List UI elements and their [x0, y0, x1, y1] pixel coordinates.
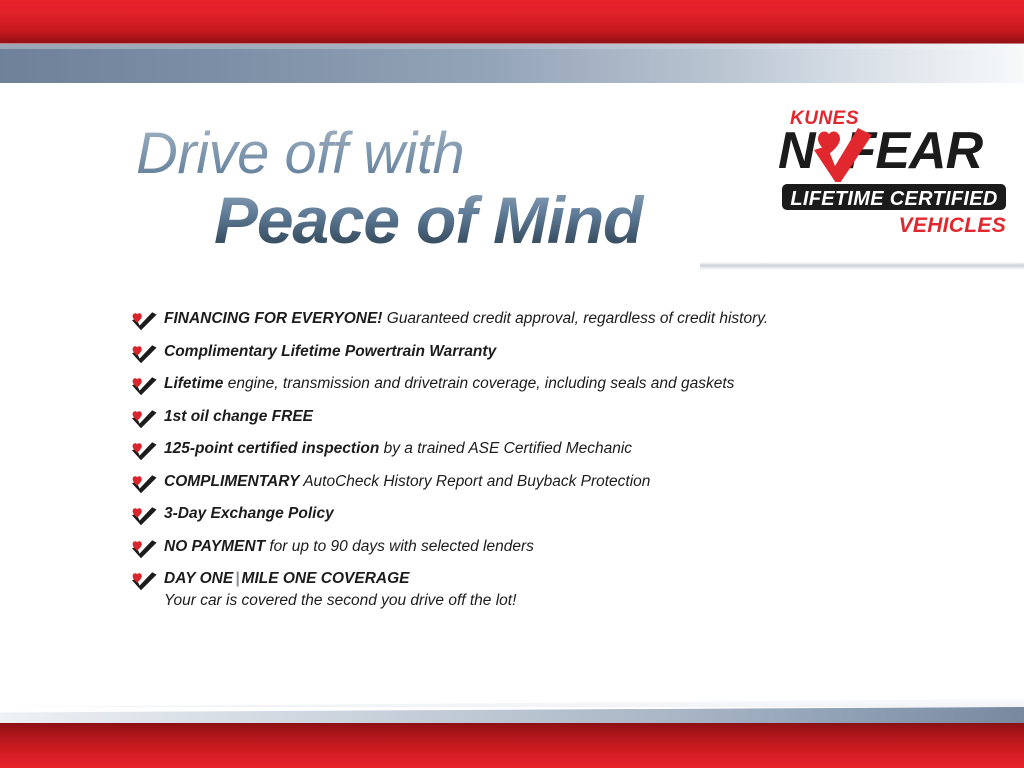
check-heart-icon [130, 376, 158, 396]
benefit-bold-secondary: MILE ONE COVERAGE [242, 570, 410, 587]
benefits-list: FINANCING FOR EVERYONE! Guaranteed credi… [130, 310, 970, 618]
benefit-item: NO PAYMENT for up to 90 days with select… [130, 538, 970, 564]
benefit-text: 125-point certified inspection by a trai… [164, 440, 970, 459]
benefit-text: Lifetime engine, transmission and drivet… [164, 375, 970, 394]
top-gray-band-sheen [0, 44, 1024, 49]
benefit-item: 125-point certified inspection by a trai… [130, 440, 970, 466]
check-heart-icon [130, 311, 158, 331]
benefit-bold: Lifetime [164, 375, 223, 392]
logo-lifetime-certified-bar: LIFETIME CERTIFIED [780, 182, 1008, 212]
benefit-item: Lifetime engine, transmission and drivet… [130, 375, 970, 401]
check-heart-icon [130, 409, 158, 429]
check-heart-icon [130, 441, 158, 461]
benefit-rest: for up to 90 days with selected lenders [265, 538, 534, 555]
benefit-bold-primary: DAY ONE [164, 570, 233, 587]
benefit-text: 3-Day Exchange Policy [164, 505, 970, 524]
bottom-gray-fade [0, 693, 1024, 707]
logo-bar-text: LIFETIME CERTIFIED [782, 188, 1006, 211]
benefit-bold: 125-point certified inspection [164, 440, 379, 457]
benefit-item: FINANCING FOR EVERYONE! Guaranteed credi… [130, 310, 970, 336]
bottom-gray-band [0, 707, 1024, 723]
benefit-bold: COMPLIMENTARY [164, 473, 299, 490]
benefit-text: Complimentary Lifetime Powertrain Warran… [164, 343, 970, 362]
benefit-bold: Complimentary Lifetime Powertrain Warran… [164, 343, 496, 360]
benefit-item: DAY ONE|MILE ONE COVERAGEYour car is cov… [130, 570, 970, 611]
red-checkmark-heart-icon [808, 126, 874, 188]
kunes-no-fear-logo: KUNES NFEAR LIFETIME CERTIFIED VEHICLES [778, 108, 1010, 248]
section-divider [700, 262, 1024, 270]
headline-line-1: Drive off with [136, 126, 756, 183]
benefit-item: 3-Day Exchange Policy [130, 505, 970, 531]
benefit-text: FINANCING FOR EVERYONE! Guaranteed credi… [164, 310, 970, 329]
top-gray-band [0, 44, 1024, 83]
bottom-red-band [0, 723, 1024, 768]
benefit-bold: FINANCING FOR EVERYONE! [164, 310, 382, 327]
check-heart-icon [130, 474, 158, 494]
benefit-bold: 3-Day Exchange Policy [164, 505, 334, 522]
benefit-separator: | [233, 570, 241, 587]
benefit-text: NO PAYMENT for up to 90 days with select… [164, 538, 970, 557]
headline-block: Drive off with Peace of Mind [136, 126, 756, 254]
benefit-text: COMPLIMENTARY AutoCheck History Report a… [164, 473, 970, 492]
benefit-rest: by a trained ASE Certified Mechanic [379, 440, 632, 457]
headline-line-2: Peace of Mind [214, 187, 756, 254]
check-heart-icon [130, 571, 158, 591]
benefit-text: 1st oil change FREE [164, 408, 970, 427]
benefit-bold: 1st oil change FREE [164, 408, 313, 425]
check-heart-icon [130, 344, 158, 364]
benefit-item: Complimentary Lifetime Powertrain Warran… [130, 343, 970, 369]
benefit-subtext: Your car is covered the second you drive… [164, 591, 970, 611]
logo-word-vehicles: VEHICLES [899, 214, 1006, 238]
benefit-rest: engine, transmission and drivetrain cove… [223, 375, 734, 392]
top-red-band [0, 0, 1024, 44]
check-heart-icon [130, 539, 158, 559]
check-heart-icon [130, 506, 158, 526]
promo-page: Drive off with Peace of Mind KUNES NFEAR… [0, 0, 1024, 768]
benefit-rest: AutoCheck History Report and Buyback Pro… [299, 473, 650, 490]
benefit-text: DAY ONE|MILE ONE COVERAGE [164, 570, 970, 589]
benefit-item: COMPLIMENTARY AutoCheck History Report a… [130, 473, 970, 499]
benefit-bold: NO PAYMENT [164, 538, 265, 555]
benefit-item: 1st oil change FREE [130, 408, 970, 434]
benefit-rest: Guaranteed credit approval, regardless o… [382, 310, 768, 327]
